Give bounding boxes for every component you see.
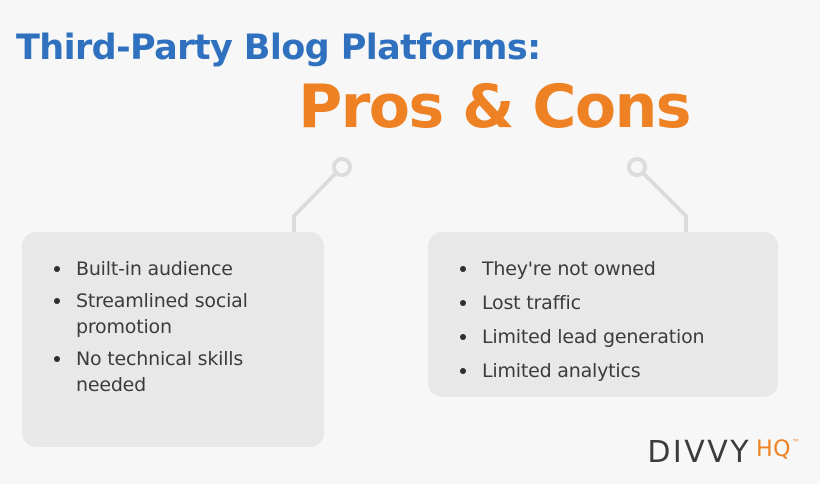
list-item: Limited lead generation <box>452 324 760 350</box>
cons-connector-line <box>643 173 686 232</box>
page-title: Pros & Cons <box>0 70 780 140</box>
cons-list: They're not owned Lost traffic Limited l… <box>452 256 760 384</box>
list-item: They're not owned <box>452 256 760 282</box>
cons-connector-dot <box>629 159 645 175</box>
logo-wordmark-primary: DIVVY <box>647 438 751 468</box>
page-eyebrow-title: Third-Party Blog Platforms: <box>0 26 780 70</box>
logo-wordmark-secondary: HQ <box>756 439 791 461</box>
list-item: No technical skills needed <box>46 346 306 398</box>
pros-connector-line <box>294 173 336 232</box>
pros-card: Built-in audience Streamlined social pro… <box>22 232 324 447</box>
pros-connector-dot <box>334 159 350 175</box>
trademark-symbol: ™ <box>792 439 800 447</box>
list-item: Limited analytics <box>452 358 760 384</box>
title-block: Third-Party Blog Platforms: Pros & Cons <box>0 26 780 140</box>
cons-card: They're not owned Lost traffic Limited l… <box>428 232 778 397</box>
list-item: Streamlined social promotion <box>46 288 306 340</box>
infographic-canvas: Third-Party Blog Platforms: Pros & Cons … <box>0 0 820 484</box>
divvyhq-logo: DIVVY HQ ™ <box>647 438 800 468</box>
list-item: Lost traffic <box>452 290 760 316</box>
pros-list: Built-in audience Streamlined social pro… <box>46 256 306 398</box>
list-item: Built-in audience <box>46 256 306 282</box>
